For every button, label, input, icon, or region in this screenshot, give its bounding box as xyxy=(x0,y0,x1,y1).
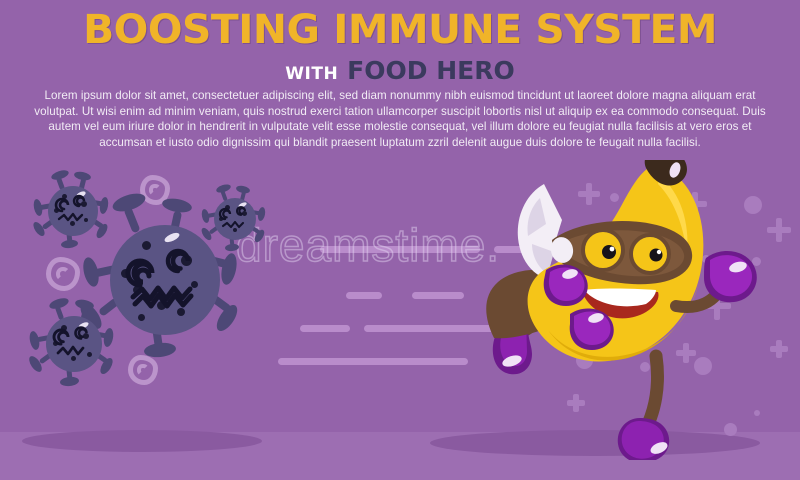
hero-right-glove xyxy=(704,251,757,302)
virus-bottom-left xyxy=(46,316,102,372)
spiral-decoration-3 xyxy=(128,355,158,385)
speed-line-r3-s1 xyxy=(300,325,350,332)
page-title: BOOSTING IMMUNE SYSTEM xyxy=(0,8,800,52)
virus-top-left xyxy=(48,186,98,236)
banana-superhero xyxy=(470,160,790,460)
banana-hero-illustration xyxy=(470,160,790,460)
virus-large xyxy=(110,225,220,335)
body-paragraph: Lorem ipsum dolor sit amet, consectetuer… xyxy=(30,88,770,150)
shadow-left xyxy=(22,430,262,452)
speed-line-r1-s1 xyxy=(320,246,480,253)
subtitle-row: WITH FOOD HERO xyxy=(0,56,800,85)
title-block: BOOSTING IMMUNE SYSTEM WITH FOOD HERO xyxy=(0,8,800,85)
speed-line-r4-s1 xyxy=(278,358,468,365)
subtitle-brand: FOOD HERO xyxy=(347,56,515,85)
virus-bottom-left-face xyxy=(46,316,102,372)
virus-top-right-face xyxy=(214,198,256,240)
poster-canvas: BOOSTING IMMUNE SYSTEM WITH FOOD HERO Lo… xyxy=(0,0,800,480)
spiral-decoration-2 xyxy=(46,257,80,291)
hero-right-boot xyxy=(618,418,670,460)
speed-line-r2-s1 xyxy=(346,292,382,299)
virus-top-left-face xyxy=(48,186,98,236)
virus-top-right xyxy=(214,198,256,240)
speed-line-r2-s2 xyxy=(412,292,464,299)
subtitle-with: WITH xyxy=(285,64,338,84)
virus-large-face xyxy=(110,225,220,335)
